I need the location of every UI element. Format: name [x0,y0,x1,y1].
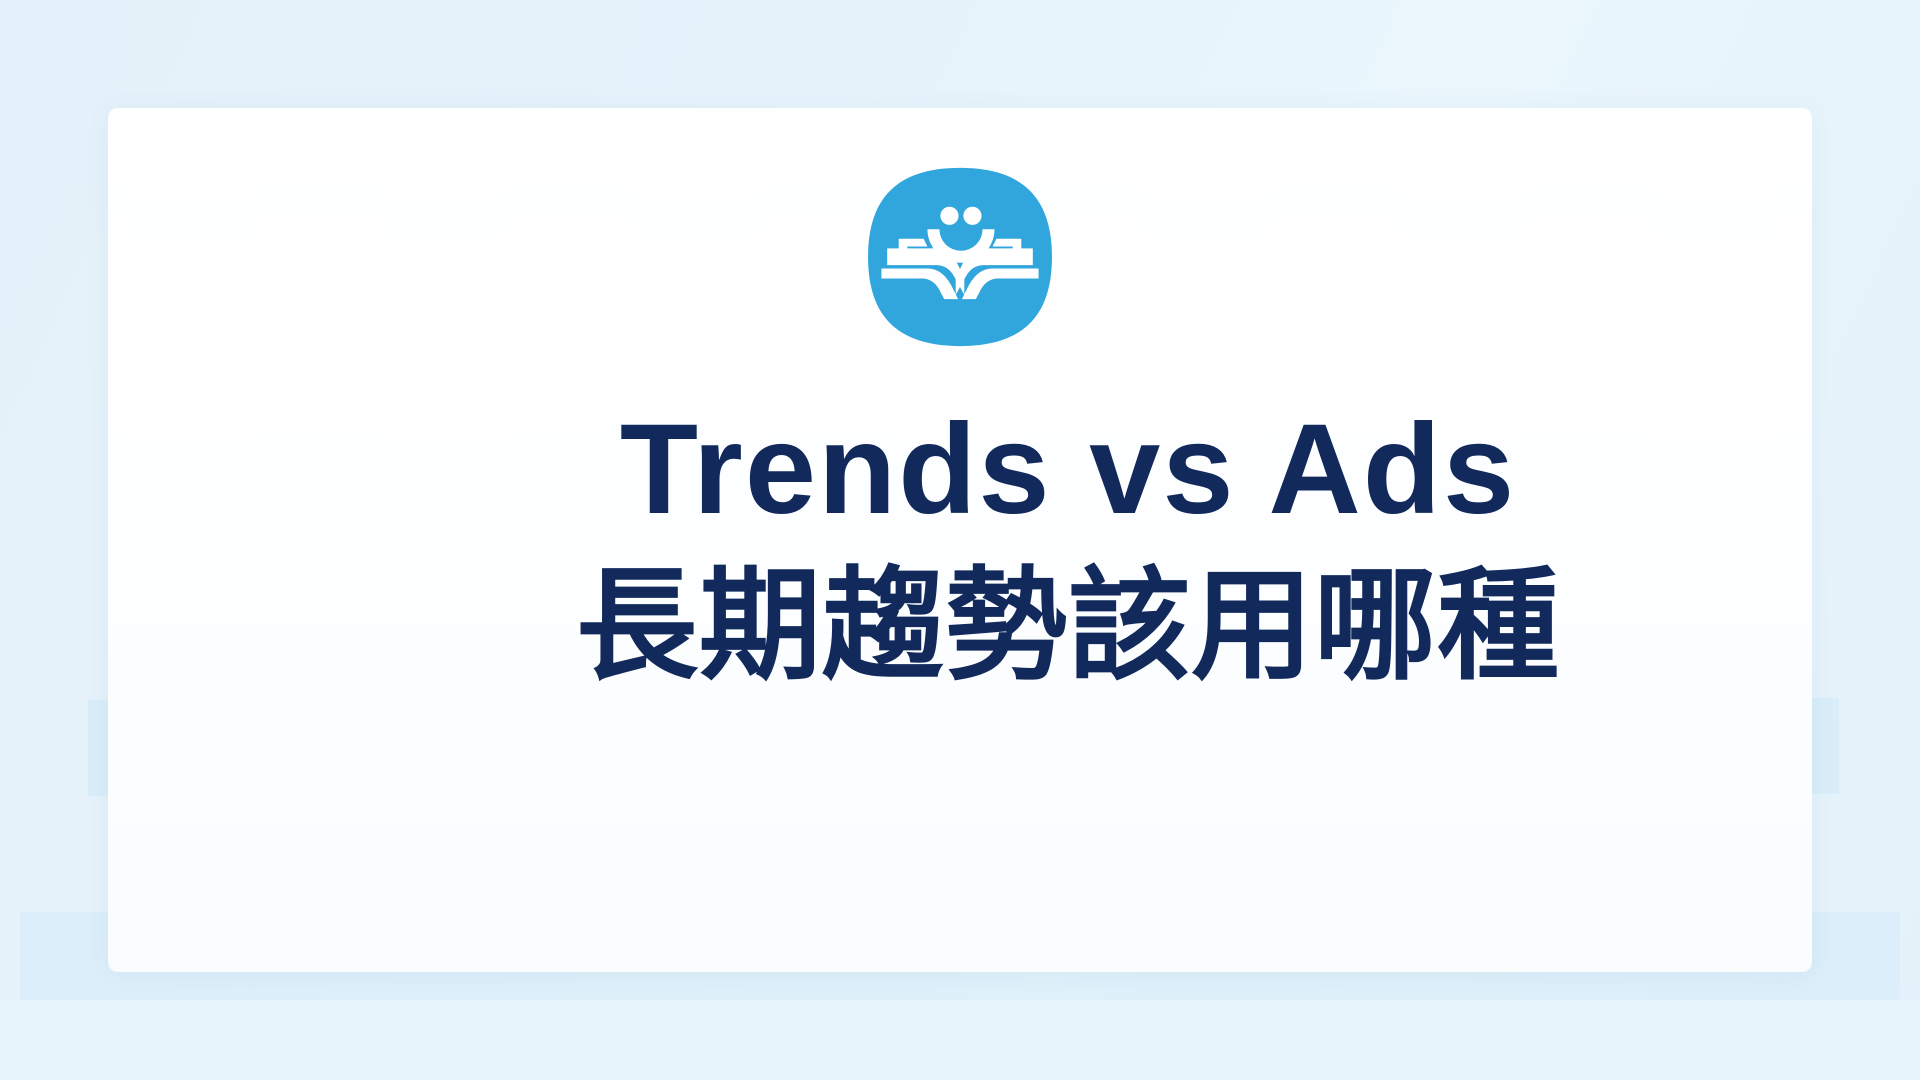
brand-logo [864,166,1056,348]
slide-canvas: Trends vs Ads 長期趨勢該用哪種 [0,0,1920,1080]
page-subtitle-chinese: 長期趨勢該用哪種 [108,555,1920,699]
content-card: Trends vs Ads 長期趨勢該用哪種 [108,108,1812,972]
title-block: Trends vs Ads 長期趨勢該用哪種 [108,398,1920,699]
logo-eye-right [963,207,981,225]
page-title-english: Trends vs Ads [108,398,1920,541]
decoration-bottom-band-lower [0,1000,1920,1080]
logo-eye-left [940,207,958,225]
